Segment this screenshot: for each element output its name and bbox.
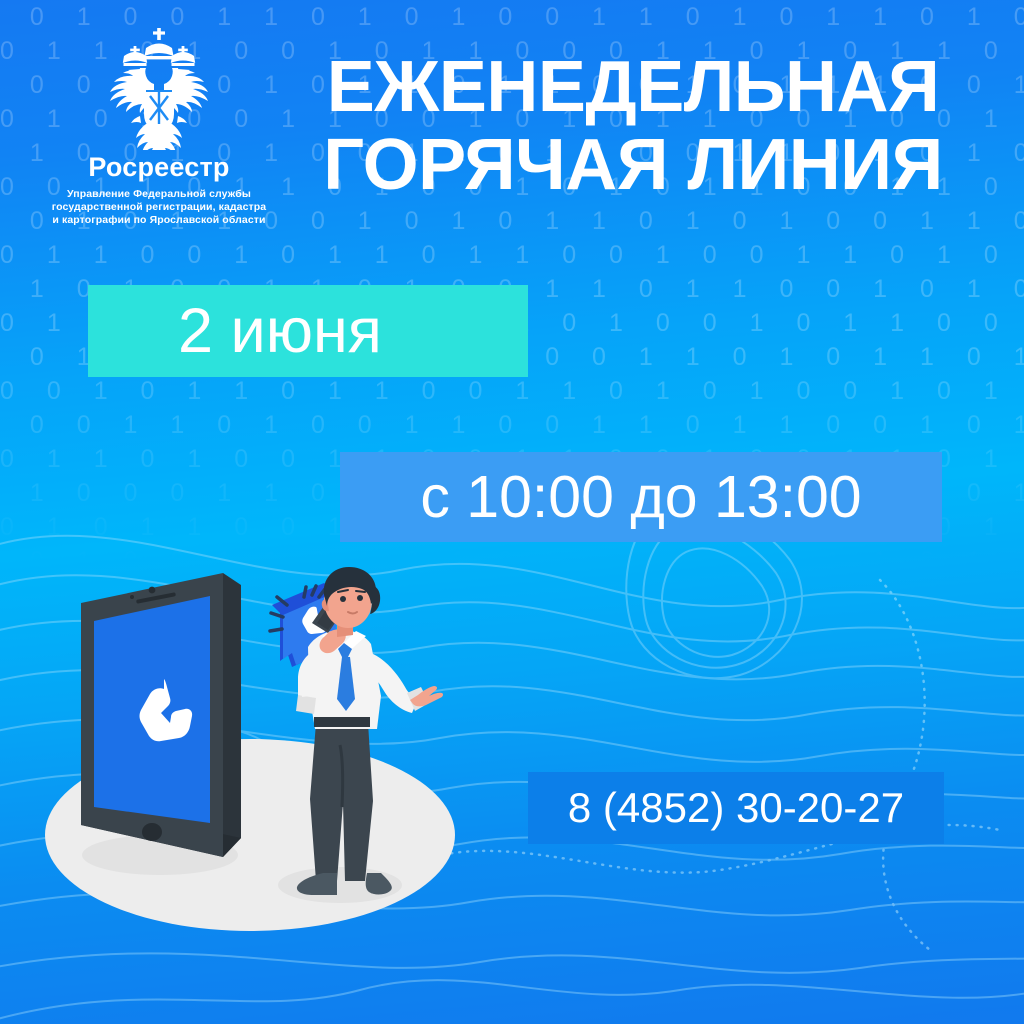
binary-row: 0 0 1 0 1 1 0 1 1 0 0 1 1 0 1 0 1 0 0 1 …	[0, 374, 1024, 408]
department-line-1: Управление Федеральной службы	[44, 188, 274, 201]
headline-line-1: ЕЖЕНЕДЕЛЬНАЯ	[270, 48, 996, 126]
time-badge: с 10:00 до 13:00	[340, 452, 942, 542]
hotline-illustration	[40, 555, 510, 955]
department-line-3: и картографии по Ярославской области	[44, 214, 274, 227]
organization-department: Управление Федеральной службы государств…	[44, 188, 274, 227]
headline-line-2: ГОРЯЧАЯ ЛИНИЯ	[270, 126, 996, 204]
hotline-poster: 1 0 1 0 0 1 1 0 1 0 1 0 0 1 1 0 1 0 1 1 …	[0, 0, 1024, 1024]
date-badge: 2 июня	[88, 285, 528, 377]
department-line-2: государственной регистрации, кадастра	[44, 201, 274, 214]
phone-number-badge: 8 (4852) 30-20-27	[528, 772, 944, 844]
smartphone-with-handset-icon	[81, 573, 241, 875]
binary-row: 0 1 1 0 0 1 0 1 1 0 1 1 0 0 1 0 0 1 1 0 …	[0, 238, 1024, 272]
binary-row: 1 0 0 1 1 0 1 0 0 1 1 0 0 1 1 0 1 1 0 0 …	[0, 408, 1024, 442]
rosreestr-logo-block: Росреестр Управление Федеральной службы …	[44, 24, 274, 227]
double-headed-eagle-emblem	[100, 24, 218, 150]
page-title: ЕЖЕНЕДЕЛЬНАЯ ГОРЯЧАЯ ЛИНИЯ	[270, 48, 996, 204]
organization-name: Росреестр	[44, 152, 274, 183]
